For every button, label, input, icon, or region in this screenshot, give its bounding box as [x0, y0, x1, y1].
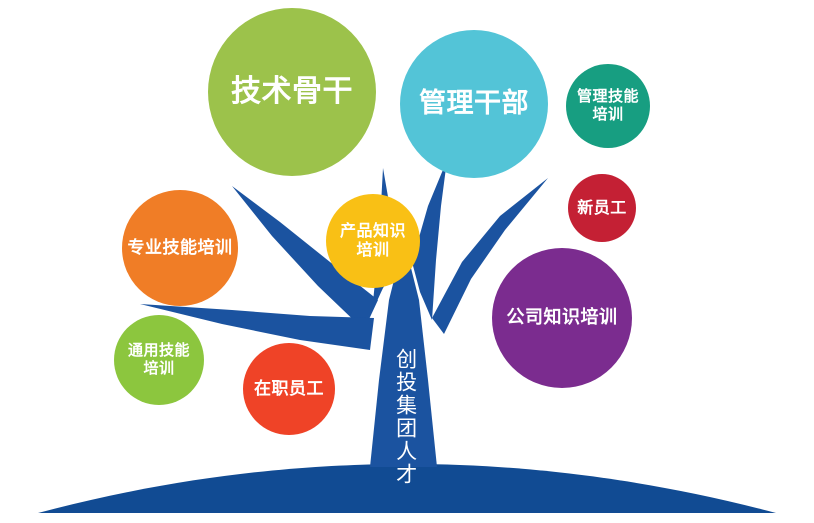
node-product-knowledge-training[interactable]: 产品知识 培训: [326, 194, 420, 288]
node-current-employee[interactable]: 在职员工: [243, 343, 335, 435]
node-label: 专业技能培训: [122, 238, 238, 258]
node-label: 通用技能 培训: [114, 342, 204, 377]
node-label: 在职员工: [243, 379, 335, 399]
node-general-skill-training[interactable]: 通用技能 培训: [114, 315, 204, 405]
talent-tree-diagram: 技术骨干 管理干部 管理技能 培训 新员工 公司知识培训 专业技能培训 产品知识…: [0, 0, 814, 523]
node-label: 技术骨干: [208, 74, 376, 109]
node-new-employee[interactable]: 新员工: [568, 174, 636, 242]
node-tech-backbone[interactable]: 技术骨干: [208, 8, 376, 176]
node-label: 公司知识培训: [492, 307, 632, 328]
node-management-cadre[interactable]: 管理干部: [400, 30, 548, 178]
node-professional-skill-training[interactable]: 专业技能培训: [122, 190, 238, 306]
trunk-label: 创投集团人才: [392, 348, 418, 486]
node-company-knowledge-training[interactable]: 公司知识培训: [492, 248, 632, 388]
node-label: 产品知识 培训: [326, 222, 420, 260]
node-management-skill-training[interactable]: 管理技能 培训: [566, 64, 650, 148]
node-label: 管理技能 培训: [566, 88, 650, 123]
node-label: 新员工: [568, 199, 636, 218]
node-label: 管理干部: [400, 88, 548, 120]
